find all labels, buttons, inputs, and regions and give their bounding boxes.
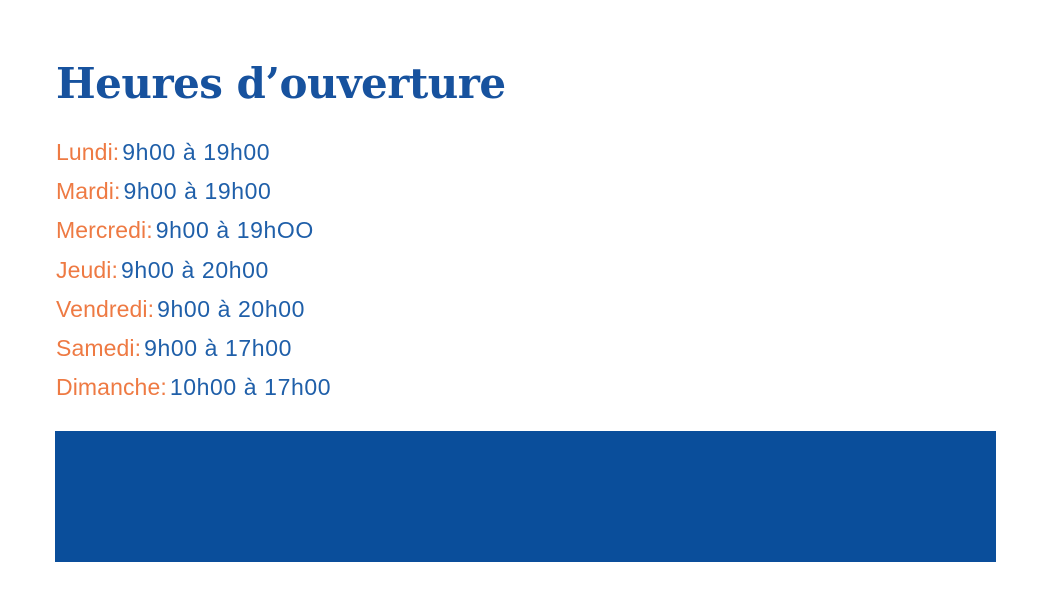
list-item: Dimanche:10h00 à 17h00 bbox=[56, 368, 616, 407]
list-item: Vendredi:9h00 à 20h00 bbox=[56, 290, 616, 329]
time-value-dimanche: 10h00 à 17h00 bbox=[170, 374, 331, 400]
day-label-lundi: Lundi: bbox=[56, 139, 119, 165]
blue-banner-block bbox=[55, 431, 996, 562]
list-item: Mercredi:9h00 à 19hOO bbox=[56, 211, 616, 250]
opening-hours-list: Lundi:9h00 à 19h00 Mardi:9h00 à 19h00 Me… bbox=[56, 133, 616, 407]
time-value-mardi: 9h00 à 19h00 bbox=[124, 178, 272, 204]
time-value-jeudi: 9h00 à 20h00 bbox=[121, 257, 269, 283]
list-item: Lundi:9h00 à 19h00 bbox=[56, 133, 616, 172]
day-label-mardi: Mardi: bbox=[56, 178, 121, 204]
time-value-mercredi: 9h00 à 19hOO bbox=[156, 217, 314, 243]
list-item: Jeudi:9h00 à 20h00 bbox=[56, 251, 616, 290]
time-value-lundi: 9h00 à 19h00 bbox=[122, 139, 270, 165]
page-title: Heures d’ouverture bbox=[56, 58, 506, 110]
time-value-vendredi: 9h00 à 20h00 bbox=[157, 296, 305, 322]
day-label-samedi: Samedi: bbox=[56, 335, 141, 361]
day-label-jeudi: Jeudi: bbox=[56, 257, 118, 283]
list-item: Samedi:9h00 à 17h00 bbox=[56, 329, 616, 368]
day-label-mercredi: Mercredi: bbox=[56, 217, 153, 243]
slide-canvas: Heures d’ouverture Lundi:9h00 à 19h00 Ma… bbox=[0, 0, 1050, 600]
time-value-samedi: 9h00 à 17h00 bbox=[144, 335, 292, 361]
day-label-vendredi: Vendredi: bbox=[56, 296, 154, 322]
list-item: Mardi:9h00 à 19h00 bbox=[56, 172, 616, 211]
day-label-dimanche: Dimanche: bbox=[56, 374, 167, 400]
